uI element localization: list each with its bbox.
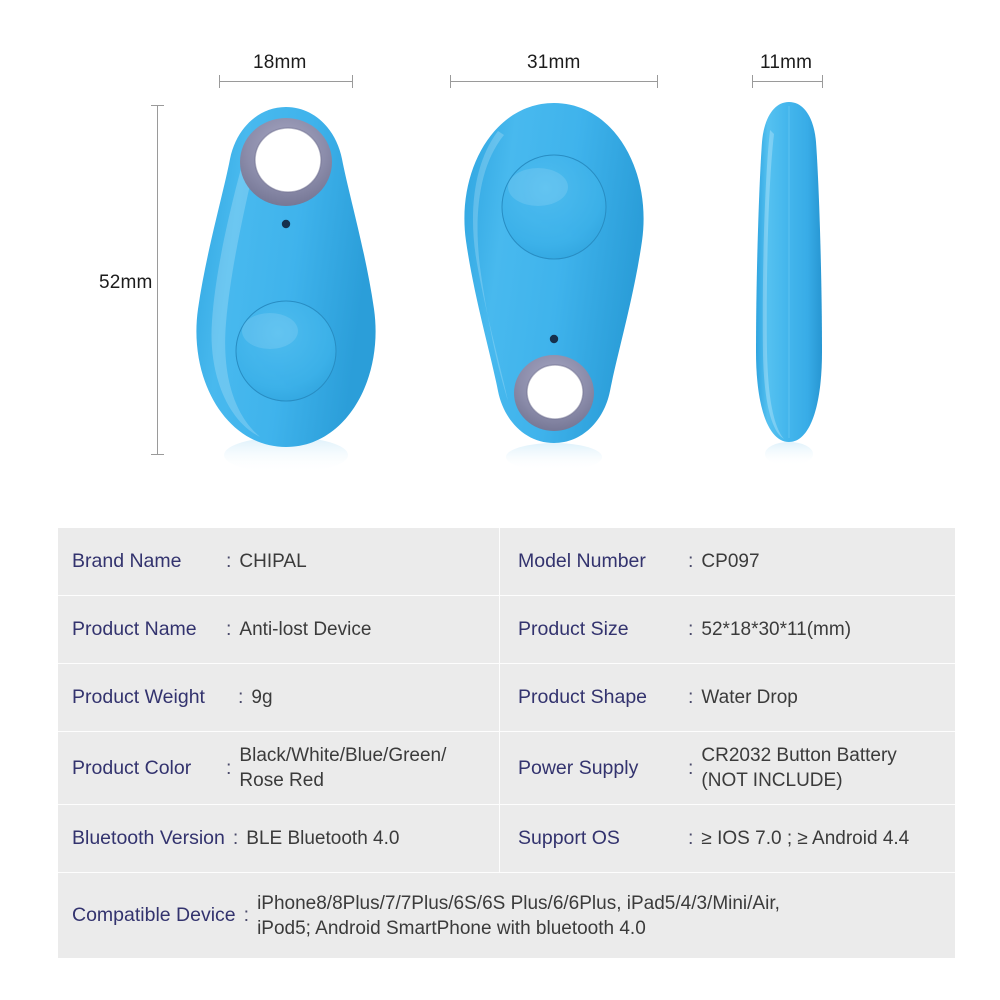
spec-value: 9g [251, 685, 499, 710]
spec-colon: : [218, 550, 239, 573]
spec-colon: : [680, 757, 701, 780]
spec-value: Water Drop [701, 685, 955, 710]
spec-value: Black/White/Blue/Green/ Rose Red [239, 743, 499, 793]
device-reflection [506, 443, 602, 471]
table-row: Compatible Device : iPhone8/8Plus/7/7Plu… [58, 873, 955, 958]
spec-value: CR2032 Button Battery (NOT INCLUDE) [701, 743, 955, 793]
spec-label: Model Number [518, 550, 680, 573]
spec-label: Brand Name [72, 550, 218, 573]
spec-label: Power Supply [518, 757, 680, 780]
device-side-view [742, 96, 837, 474]
spec-cell-model-number: Model Number : CP097 [500, 528, 955, 595]
spec-label: Bluetooth Version [72, 827, 225, 850]
spec-colon: : [680, 827, 701, 850]
spec-cell-bluetooth-version: Bluetooth Version : BLE Bluetooth 4.0 [58, 805, 500, 872]
spec-colon: : [218, 618, 239, 641]
spec-label: Product Name [72, 618, 218, 641]
led-indicator [550, 335, 558, 343]
spec-cell-product-size: Product Size : 52*18*30*11(mm) [500, 596, 955, 663]
spec-cell-product-shape: Product Shape : Water Drop [500, 664, 955, 731]
spec-cell-brand-name: Brand Name : CHIPAL [58, 528, 500, 595]
table-row: Bluetooth Version : BLE Bluetooth 4.0 Su… [58, 805, 955, 873]
spec-label: Product Shape [518, 686, 680, 709]
table-row: Product Name : Anti-lost Device Product … [58, 596, 955, 664]
spec-value: CP097 [701, 549, 955, 574]
spec-colon: : [225, 827, 246, 850]
spec-cell-compatible-device: Compatible Device : iPhone8/8Plus/7/7Plu… [58, 873, 955, 958]
spec-colon: : [680, 618, 701, 641]
dimension-label-width-front: 18mm [253, 52, 307, 74]
dimension-line-width-back [450, 81, 658, 82]
device-back-view [452, 95, 657, 475]
spec-colon: : [236, 904, 257, 927]
spec-colon: : [680, 550, 701, 573]
spec-value: 52*18*30*11(mm) [701, 617, 955, 642]
dimension-label-width-back: 31mm [527, 52, 581, 74]
specification-table: Brand Name : CHIPAL Model Number : CP097… [58, 528, 955, 958]
spec-label: Compatible Device [72, 904, 236, 927]
main-button [236, 301, 336, 401]
spec-cell-product-name: Product Name : Anti-lost Device [58, 596, 500, 663]
spec-colon: : [218, 757, 239, 780]
spec-label: Product Size [518, 618, 680, 641]
dimension-line-width-front [219, 81, 353, 82]
spec-colon: : [680, 686, 701, 709]
device-front-view [186, 103, 386, 478]
spec-cell-product-color: Product Color : Black/White/Blue/Green/ … [58, 732, 500, 804]
dimension-line-width-side [752, 81, 823, 82]
table-row: Brand Name : CHIPAL Model Number : CP097 [58, 528, 955, 596]
dimension-line-height [157, 105, 158, 455]
table-row: Product Color : Black/White/Blue/Green/ … [58, 732, 955, 805]
dimension-label-width-side: 11mm [760, 52, 812, 74]
device-reflection [765, 442, 813, 466]
table-row: Product Weight : 9g Product Shape : Wate… [58, 664, 955, 732]
spec-value: BLE Bluetooth 4.0 [246, 826, 499, 851]
led-indicator [282, 220, 290, 228]
spec-label: Support OS [518, 827, 680, 850]
spec-label: Product Color [72, 757, 218, 780]
spec-value: Anti-lost Device [239, 617, 499, 642]
spec-label: Product Weight [72, 686, 230, 709]
spec-cell-support-os: Support OS : ≥ IOS 7.0 ; ≥ Android 4.4 [500, 805, 955, 872]
spec-cell-product-weight: Product Weight : 9g [58, 664, 500, 731]
spec-colon: : [230, 686, 251, 709]
spec-value: ≥ IOS 7.0 ; ≥ Android 4.4 [701, 826, 955, 851]
spec-value: CHIPAL [239, 549, 499, 574]
spec-value: iPhone8/8Plus/7/7Plus/6S/6S Plus/6/6Plus… [257, 891, 955, 941]
spec-cell-power-supply: Power Supply : CR2032 Button Battery (NO… [500, 732, 955, 804]
dimension-label-height: 52mm [99, 272, 153, 294]
product-showcase: 18mm 52mm 31mm 11mm [0, 0, 1000, 510]
main-button [502, 155, 606, 259]
